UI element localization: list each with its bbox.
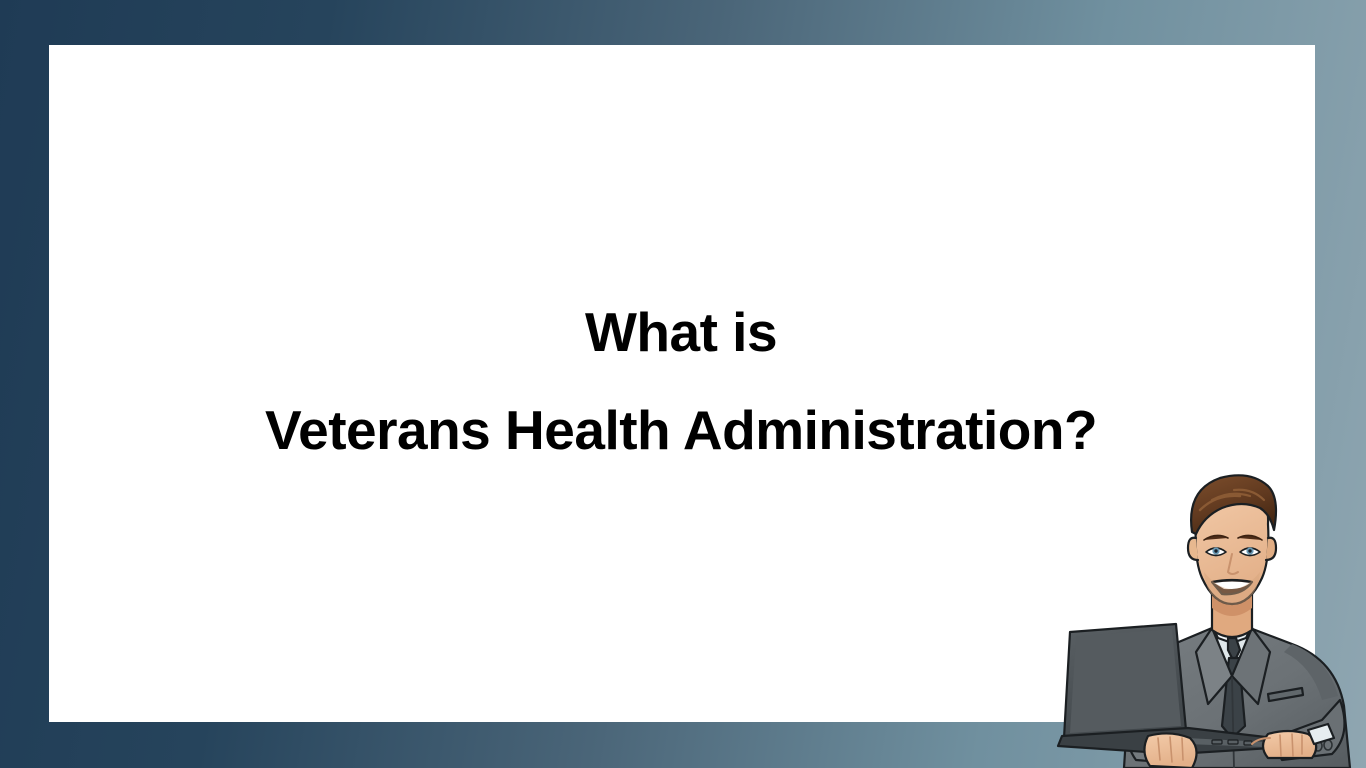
- laptop-base: [1058, 728, 1274, 754]
- slide-content-panel: What is Veterans Health Administration?: [49, 45, 1315, 722]
- slide-title-block: What is Veterans Health Administration?: [49, 45, 1315, 479]
- cuff-buttons: [1294, 740, 1332, 753]
- slide-canvas: What is Veterans Health Administration?: [0, 0, 1366, 768]
- laptop-ports: [1212, 740, 1252, 745]
- shirt-cuff: [1308, 724, 1334, 744]
- title-line-2: Veterans Health Administration?: [47, 381, 1315, 479]
- right-hand: [1252, 731, 1316, 758]
- left-hand: [1144, 733, 1196, 768]
- title-line-1: What is: [47, 283, 1315, 381]
